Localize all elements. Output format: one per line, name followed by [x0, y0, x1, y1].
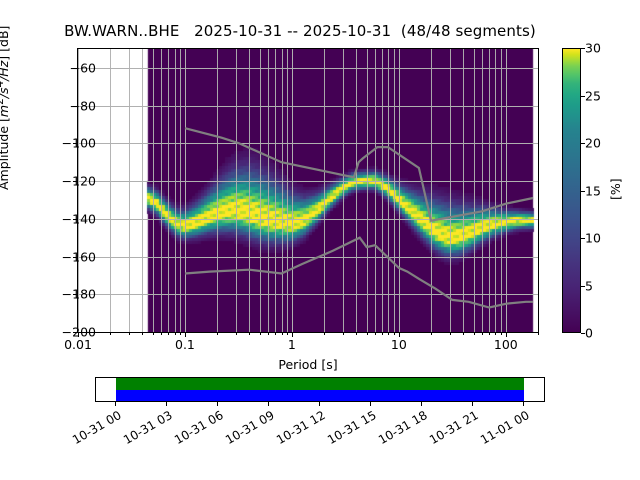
- y-axis-tick-mark: [73, 219, 77, 220]
- colorbar-tick-mark: [581, 191, 585, 192]
- timeline-tick-label: 10-31 15: [325, 409, 377, 447]
- timeline-tick-label: 11-01 00: [478, 409, 530, 447]
- timeline-tick-mark: [115, 402, 116, 406]
- x-axis-tick-label: 10: [391, 337, 407, 352]
- y-axis-tick-mark: [73, 106, 77, 107]
- x-axis-minor-tick: [236, 333, 237, 335]
- colorbar-tick-mark: [581, 143, 585, 144]
- x-axis-minor-tick: [489, 333, 490, 335]
- x-axis-tick-mark: [292, 333, 293, 337]
- x-axis-minor-tick: [343, 333, 344, 335]
- x-axis-minor-tick: [482, 333, 483, 335]
- colorbar-tick-label: 15: [585, 183, 601, 198]
- x-axis-minor-tick: [282, 333, 283, 335]
- x-axis-tick-label: 100: [494, 337, 518, 352]
- x-axis-minor-tick: [161, 333, 162, 335]
- x-axis-label: Period [s]: [77, 357, 539, 372]
- x-axis-minor-tick: [388, 333, 389, 335]
- figure-title: BW.WARN..BHE 2025-10-31 -- 2025-10-31 (4…: [0, 22, 600, 40]
- timeline-tick-label: 10-31 06: [172, 409, 224, 447]
- x-axis-tick-mark: [506, 333, 507, 337]
- psd-segments-bar: [116, 390, 524, 402]
- x-axis-minor-tick: [394, 333, 395, 335]
- x-axis-minor-tick: [260, 333, 261, 335]
- timeline-tick-mark: [319, 402, 320, 406]
- timeline-tick-mark: [217, 402, 218, 406]
- y-axis-tick-mark: [73, 181, 77, 182]
- x-axis-minor-tick: [110, 333, 111, 335]
- x-axis-minor-tick: [153, 333, 154, 335]
- colorbar-tick-label: 5: [585, 278, 593, 293]
- colorbar-tick-mark: [581, 238, 585, 239]
- data-coverage-bar: [116, 378, 524, 390]
- x-axis-tick-mark: [78, 333, 79, 337]
- timeline-tick-label: 10-31 03: [121, 409, 173, 447]
- x-axis-minor-tick: [375, 333, 376, 335]
- x-axis-minor-tick: [275, 333, 276, 335]
- y-axis-tick-mark: [73, 143, 77, 144]
- y-axis-tick-label: −100: [62, 136, 96, 151]
- y-axis-label: Amplitude [m2/s4/Hz] [dB]: [0, 26, 11, 190]
- x-axis-minor-tick: [180, 333, 181, 335]
- timeline-tick-mark: [472, 402, 473, 406]
- noise-model-curves: [78, 49, 538, 332]
- y-axis-tick-mark: [73, 294, 77, 295]
- colorbar-tick-mark: [581, 48, 585, 49]
- y-axis-tick-label: −120: [62, 174, 96, 189]
- x-axis-minor-tick: [474, 333, 475, 335]
- y-axis-tick-label: −180: [62, 287, 96, 302]
- x-axis-minor-tick: [431, 333, 432, 335]
- ppsd-plot-area[interactable]: [77, 48, 539, 333]
- x-axis-tick-label: 0.1: [175, 337, 195, 352]
- colorbar-tick-mark: [581, 286, 585, 287]
- y-axis-tick-mark: [73, 257, 77, 258]
- colorbar-tick-mark: [581, 96, 585, 97]
- x-axis-tick-label: 0.01: [64, 337, 92, 352]
- x-axis-minor-tick: [501, 333, 502, 335]
- x-axis-minor-tick: [538, 333, 539, 335]
- colorbar-tick-label: 25: [585, 88, 601, 103]
- x-axis-minor-tick: [463, 333, 464, 335]
- timeline-tick-mark: [370, 402, 371, 406]
- x-axis-minor-tick: [129, 333, 130, 335]
- colorbar-tick-label: 20: [585, 136, 601, 151]
- timeline-tick-label: 10-31 21: [427, 409, 479, 447]
- timeline-tick-label: 10-31 09: [223, 409, 275, 447]
- ppsd-clip: [78, 49, 538, 332]
- colorbar: [562, 48, 581, 333]
- y-axis-tick-label: −160: [62, 249, 96, 264]
- timeline-tick-label: 10-31 00: [70, 409, 122, 447]
- x-axis-minor-tick: [367, 333, 368, 335]
- timeline-tick-label: 10-31 18: [376, 409, 428, 447]
- x-axis-minor-tick: [249, 333, 250, 335]
- timeline-tick-mark: [166, 402, 167, 406]
- x-axis-minor-tick: [324, 333, 325, 335]
- x-axis-minor-tick: [356, 333, 357, 335]
- timeline-tick-label: 10-31 12: [274, 409, 326, 447]
- colorbar-tick-label: 0: [585, 326, 593, 341]
- timeline-tick-mark: [421, 402, 422, 406]
- x-axis-minor-tick: [217, 333, 218, 335]
- y-axis-tick-mark: [73, 332, 77, 333]
- y-axis-tick-label: −140: [62, 211, 96, 226]
- timeline-tick-mark: [523, 402, 524, 406]
- x-axis-tick-mark: [185, 333, 186, 337]
- x-axis-minor-tick: [268, 333, 269, 335]
- noise-model-nlnm: [185, 238, 533, 308]
- x-axis-minor-tick: [142, 333, 143, 335]
- colorbar-tick-label: 30: [585, 41, 601, 56]
- noise-model-nhnm: [185, 128, 533, 221]
- x-axis-minor-tick: [287, 333, 288, 335]
- colorbar-label: [%]: [608, 178, 623, 200]
- x-axis-tick-mark: [399, 333, 400, 337]
- colorbar-tick-mark: [581, 333, 585, 334]
- ppsd-figure: BW.WARN..BHE 2025-10-31 -- 2025-10-31 (4…: [0, 0, 640, 480]
- timeline-plot-area[interactable]: [95, 377, 545, 402]
- x-axis-minor-tick: [382, 333, 383, 335]
- x-axis-minor-tick: [168, 333, 169, 335]
- x-axis-minor-tick: [450, 333, 451, 335]
- x-axis-minor-tick: [495, 333, 496, 335]
- y-axis-tick-mark: [73, 68, 77, 69]
- x-axis-tick-label: 1: [288, 337, 296, 352]
- colorbar-tick-label: 10: [585, 231, 601, 246]
- x-axis-minor-tick: [175, 333, 176, 335]
- timeline-tick-mark: [268, 402, 269, 406]
